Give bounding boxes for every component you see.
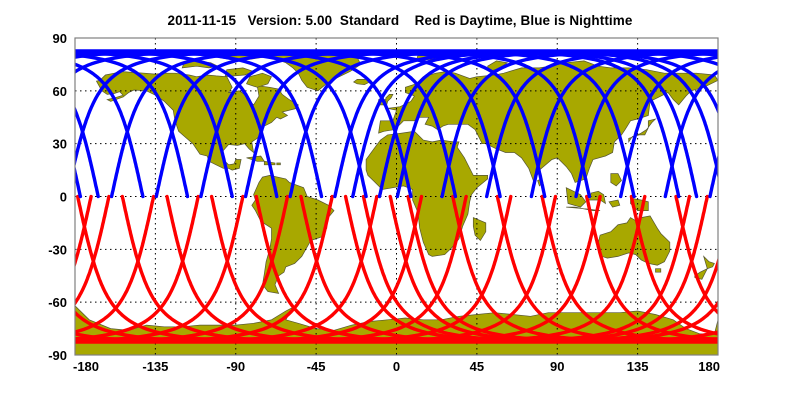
x-axis-tick-label: -90 xyxy=(226,359,245,374)
y-axis-tick-label: -30 xyxy=(48,242,67,257)
y-axis-ticks: 9060300-30-60-90 xyxy=(48,31,67,363)
y-axis-tick-label: -60 xyxy=(48,295,67,310)
nighttime-ground-track xyxy=(0,58,80,196)
ground-track-figure: 2011-11-15 Version: 5.00 Standard Red is… xyxy=(0,0,800,400)
x-axis-ticks: -180-135-90-4504590135180 xyxy=(73,359,720,374)
ground-track-chart: 9060300-30-60-90 -180-135-90-45045901351… xyxy=(0,0,800,400)
x-axis-tick-label: 0 xyxy=(393,359,400,374)
x-axis-tick-label: 45 xyxy=(470,359,484,374)
y-axis-tick-label: 0 xyxy=(60,190,67,205)
x-axis-tick-label: 180 xyxy=(698,359,720,374)
daytime-ground-track xyxy=(721,197,800,334)
x-axis-tick-label: 135 xyxy=(627,359,649,374)
nighttime-ground-track xyxy=(0,65,54,196)
y-axis-tick-label: 60 xyxy=(53,84,67,99)
nighttime-ground-track xyxy=(0,74,36,197)
x-axis-tick-label: -180 xyxy=(73,359,99,374)
daytime-ground-track xyxy=(0,197,64,332)
landmass-polygon xyxy=(277,163,281,165)
x-axis-tick-label: 90 xyxy=(550,359,564,374)
daytime-ground-track xyxy=(765,197,800,313)
x-axis-tick-label: -45 xyxy=(307,359,326,374)
y-axis-tick-label: 30 xyxy=(53,137,67,152)
y-axis-tick-label: -90 xyxy=(48,348,67,363)
nighttime-ground-track xyxy=(710,57,800,196)
x-axis-tick-label: -135 xyxy=(142,359,168,374)
landmass-polygon xyxy=(656,269,661,273)
y-axis-tick-label: 90 xyxy=(53,31,67,46)
daytime-ground-track xyxy=(0,197,2,263)
nighttime-ground-track xyxy=(755,73,800,197)
daytime-ground-track xyxy=(0,197,46,326)
